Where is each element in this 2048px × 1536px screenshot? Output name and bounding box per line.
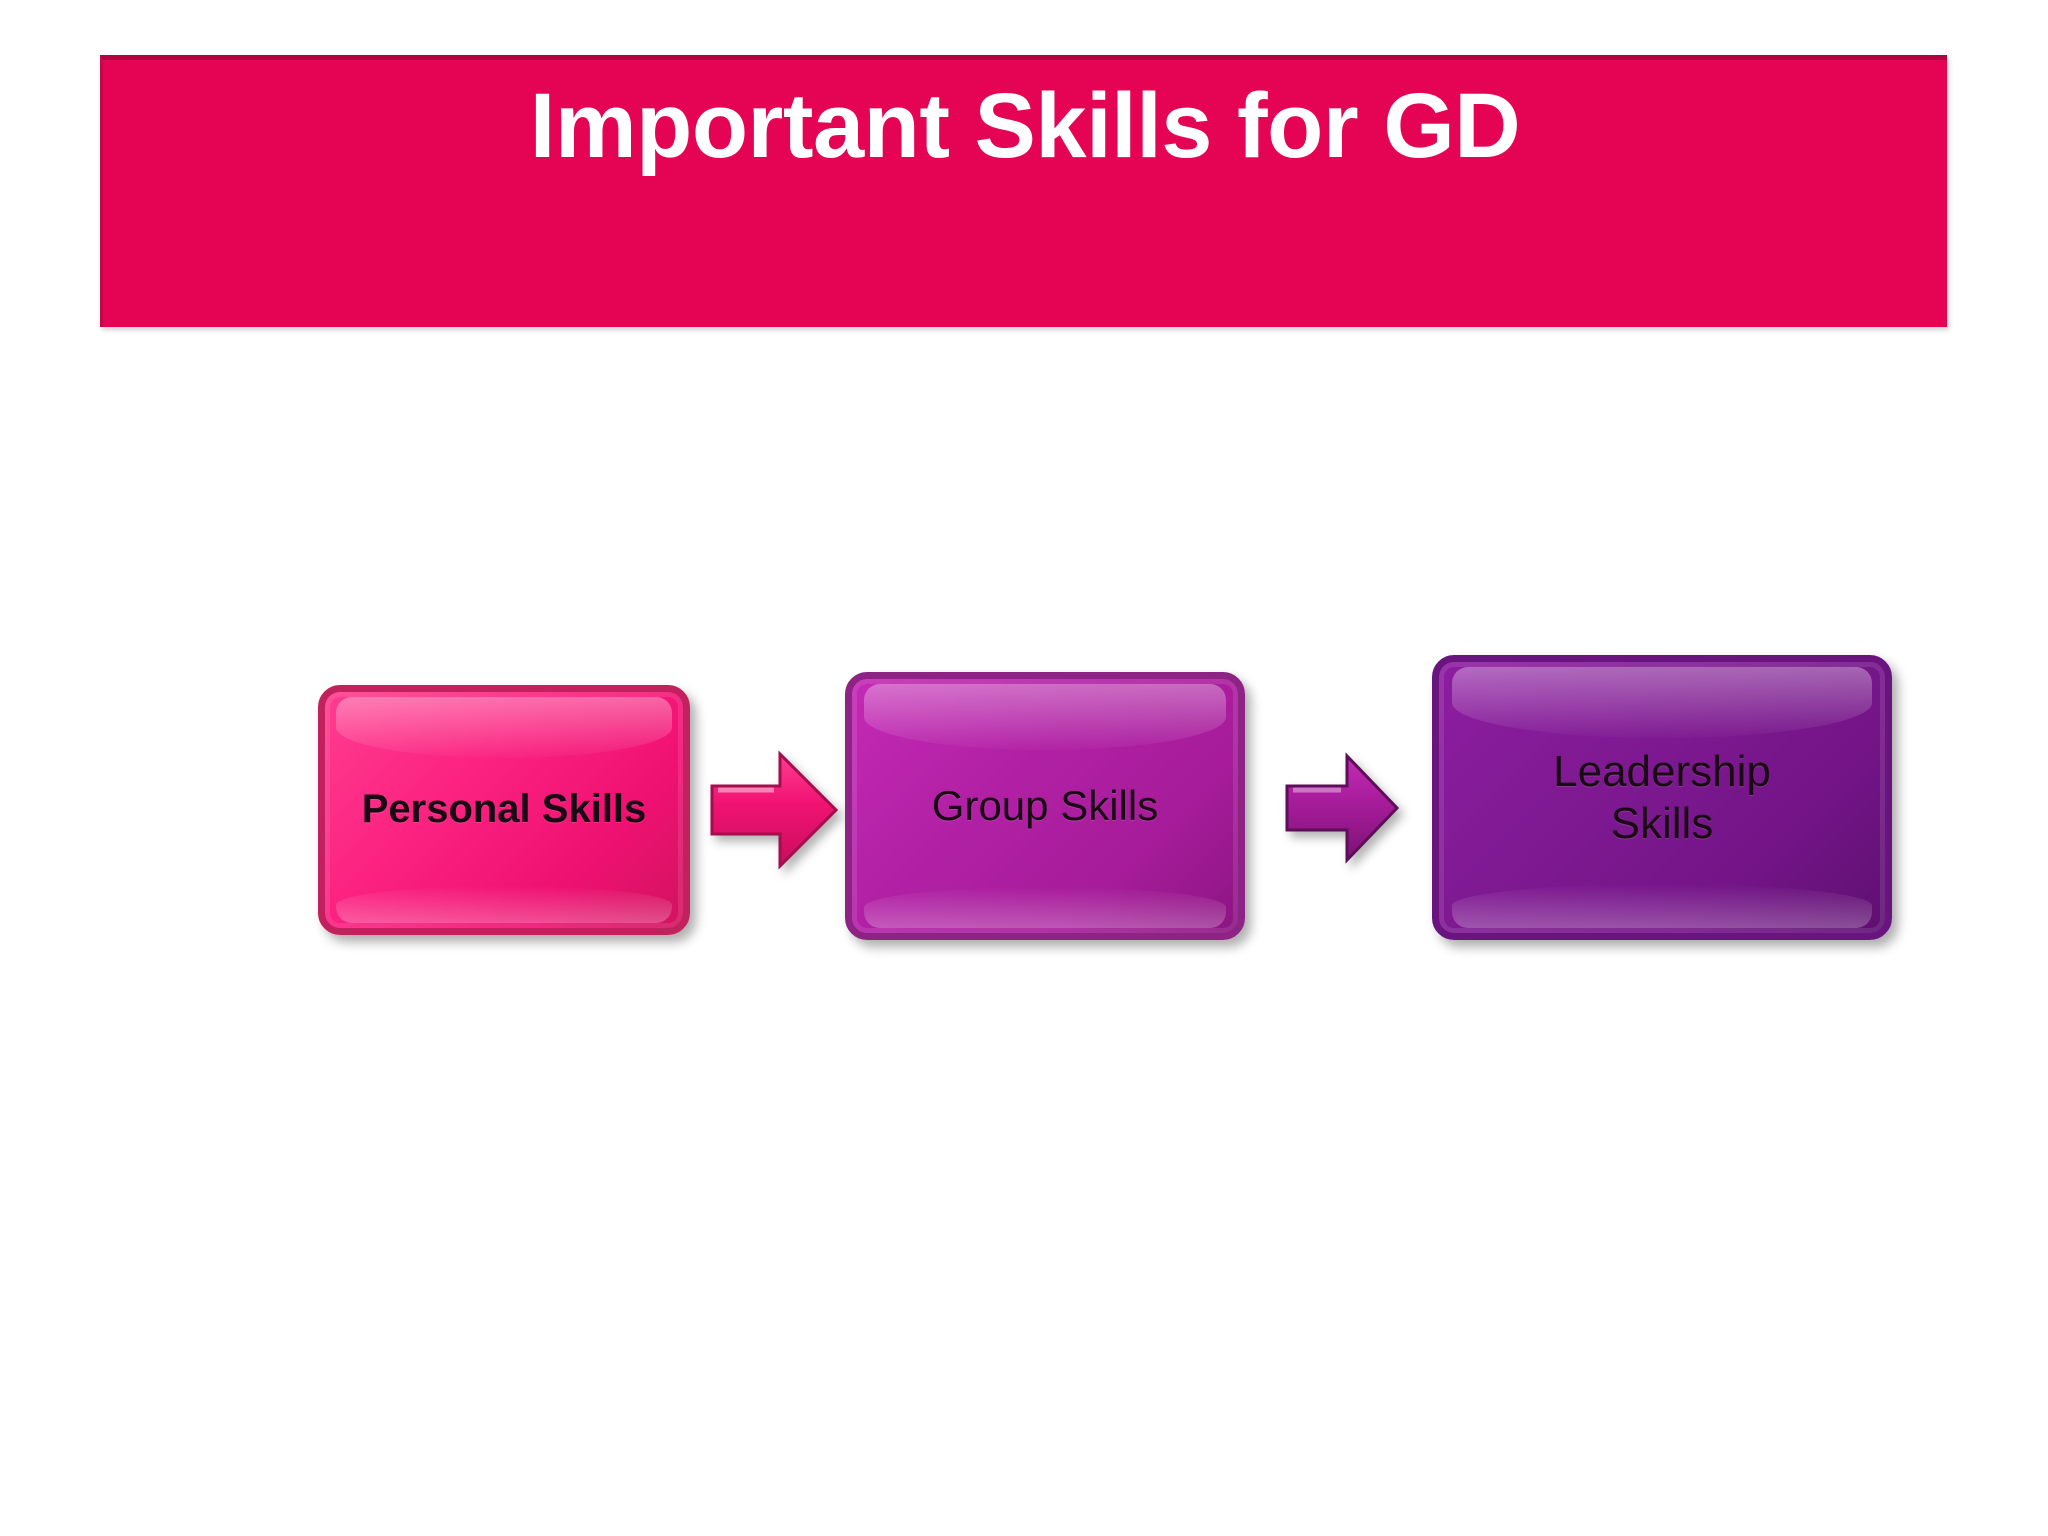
slide-canvas: Important Skills for GD Personal Skills <box>0 0 2048 1536</box>
process-step-label: Personal Skills <box>344 786 665 833</box>
box-highlight-gloss-bottom <box>336 886 673 924</box>
box-highlight-gloss <box>336 697 673 758</box>
process-step-label: Group Skills <box>914 781 1176 831</box>
process-step-label-line1: Leadership <box>1553 747 1771 796</box>
page-title: Important Skills for GD <box>103 78 1947 175</box>
box-highlight-gloss <box>864 684 1227 750</box>
title-banner: Important Skills for GD <box>100 55 1947 327</box>
process-step-leadership-skills[interactable]: Leadership Skills <box>1432 655 1892 940</box>
process-step-group-skills[interactable]: Group Skills <box>845 672 1245 940</box>
box-highlight-gloss-bottom <box>1452 884 1871 927</box>
process-step-label: Leadership Skills <box>1535 746 1789 850</box>
right-arrow-icon <box>708 750 840 870</box>
box-highlight-gloss <box>1452 667 1871 737</box>
process-step-label-line2: Skills <box>1611 799 1714 848</box>
right-arrow-icon <box>1283 752 1401 864</box>
process-step-personal-skills[interactable]: Personal Skills <box>318 685 690 935</box>
box-highlight-gloss-bottom <box>864 887 1227 928</box>
